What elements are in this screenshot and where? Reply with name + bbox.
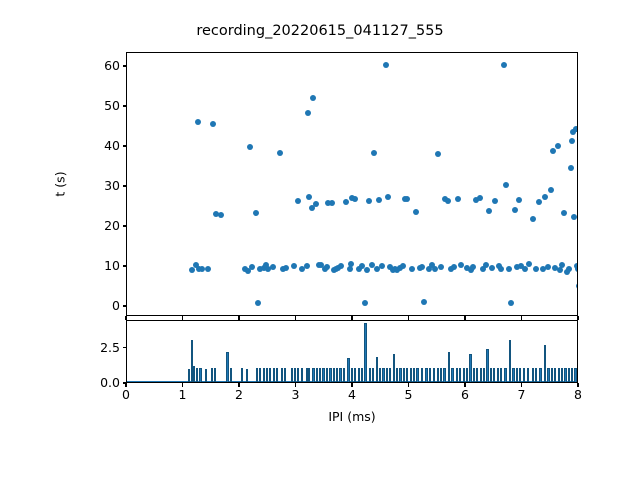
x-axis-tick bbox=[521, 383, 522, 387]
histogram-bar bbox=[246, 369, 248, 382]
y-axis-tick-label: 40 bbox=[104, 140, 120, 153]
histogram-bar bbox=[259, 368, 261, 382]
histogram-bar bbox=[364, 323, 366, 382]
histogram-bar bbox=[459, 368, 461, 382]
histogram-bar bbox=[301, 368, 303, 382]
scatter-point bbox=[492, 198, 498, 204]
scatter-point bbox=[486, 208, 492, 214]
scatter-point bbox=[445, 198, 451, 204]
x-axis-tick bbox=[521, 316, 522, 320]
scatter-point bbox=[199, 266, 205, 272]
histogram-bar bbox=[483, 368, 485, 382]
histogram-bar bbox=[497, 368, 499, 382]
y-axis-tick bbox=[123, 265, 127, 266]
scatter-point bbox=[421, 299, 427, 305]
histogram-bar bbox=[343, 368, 345, 382]
histogram-bar bbox=[500, 368, 502, 382]
histogram-bar bbox=[516, 368, 518, 382]
histogram-bar bbox=[389, 368, 391, 382]
x-axis-tick bbox=[238, 316, 239, 320]
histogram-bar bbox=[358, 368, 360, 382]
histogram-bar bbox=[379, 368, 381, 382]
scatter-point bbox=[404, 196, 410, 202]
histogram-bar bbox=[456, 368, 458, 382]
histogram-bar bbox=[527, 368, 529, 382]
scatter-point bbox=[435, 151, 441, 157]
scatter-point bbox=[526, 261, 532, 267]
histogram-plot-area bbox=[127, 321, 577, 382]
histogram-bar bbox=[284, 368, 286, 382]
scatter-point bbox=[371, 150, 377, 156]
histogram-bar bbox=[425, 368, 427, 382]
histogram-bar bbox=[473, 368, 475, 382]
y-axis-tick bbox=[123, 145, 127, 146]
histogram-bar bbox=[463, 368, 465, 382]
scatter-point bbox=[376, 197, 382, 203]
scatter-point bbox=[366, 198, 372, 204]
scatter-point bbox=[249, 264, 255, 270]
x-axis-tick bbox=[351, 383, 352, 387]
x-axis-tick bbox=[125, 316, 126, 320]
scatter-point bbox=[347, 266, 353, 272]
y-axis-tick-label: 30 bbox=[104, 180, 120, 193]
histogram-bar bbox=[241, 368, 243, 382]
scatter-point bbox=[352, 196, 358, 202]
x-axis-tick bbox=[182, 316, 183, 320]
histogram-bar bbox=[480, 368, 482, 382]
histogram-bar bbox=[568, 368, 570, 382]
histogram-bar bbox=[230, 368, 232, 382]
scatter-point bbox=[270, 264, 276, 270]
histogram-bar bbox=[476, 368, 478, 382]
y-axis-tick bbox=[123, 185, 127, 186]
histogram-bar bbox=[504, 368, 506, 382]
histogram-bar bbox=[354, 368, 356, 382]
histogram-bar bbox=[554, 368, 556, 382]
y-axis-tick-label: 20 bbox=[104, 220, 120, 233]
scatter-point bbox=[195, 119, 201, 125]
x-axis-tick bbox=[295, 316, 296, 320]
scatter-point bbox=[536, 199, 542, 205]
histogram-bar bbox=[326, 368, 328, 382]
histogram-bar bbox=[403, 368, 405, 382]
matplotlib-figure: recording_20220615_041127_555 0102030405… bbox=[0, 0, 640, 480]
y-axis-tick bbox=[123, 105, 127, 106]
y-axis-tick bbox=[123, 65, 127, 66]
histogram-bar bbox=[561, 368, 563, 382]
histogram-bar bbox=[269, 368, 271, 382]
x-axis-tick bbox=[464, 316, 465, 320]
histogram-bar bbox=[205, 369, 207, 382]
scatter-axes bbox=[126, 52, 578, 316]
scatter-point bbox=[557, 267, 563, 273]
histogram-bar bbox=[291, 368, 293, 382]
scatter-point bbox=[477, 195, 483, 201]
scatter-point bbox=[419, 264, 425, 270]
scatter-point bbox=[379, 263, 385, 269]
scatter-point bbox=[455, 196, 461, 202]
scatter-point bbox=[566, 266, 572, 272]
histogram-bar bbox=[416, 368, 418, 382]
x-axis-tick bbox=[408, 383, 409, 387]
y-axis-tick-label: 0 bbox=[112, 300, 120, 313]
histogram-bar bbox=[437, 368, 439, 382]
histogram-bar bbox=[263, 368, 265, 382]
histogram-bar bbox=[297, 368, 299, 382]
histogram-xlabel: IPI (ms) bbox=[126, 409, 578, 424]
scatter-plot-area bbox=[127, 53, 577, 315]
scatter-point bbox=[573, 126, 577, 132]
x-axis-tick-label: 0 bbox=[122, 389, 130, 402]
scatter-point bbox=[506, 266, 512, 272]
histogram-bar bbox=[214, 368, 216, 382]
histogram-bar bbox=[196, 368, 198, 382]
histogram-bar bbox=[406, 368, 408, 382]
scatter-point bbox=[277, 150, 283, 156]
y-axis-tick bbox=[123, 225, 127, 226]
scatter-point bbox=[291, 263, 297, 269]
scatter-point bbox=[247, 144, 253, 150]
scatter-point bbox=[400, 263, 406, 269]
y-axis-tick bbox=[123, 305, 127, 306]
x-axis-tick-label: 5 bbox=[405, 389, 413, 402]
y-axis-tick bbox=[123, 347, 127, 348]
x-axis-tick bbox=[182, 383, 183, 387]
histogram-bar bbox=[421, 368, 423, 382]
histogram-bar bbox=[486, 349, 488, 382]
scatter-point bbox=[364, 267, 370, 273]
histogram-bar bbox=[396, 368, 398, 382]
x-axis-tick bbox=[577, 383, 578, 387]
scatter-point bbox=[283, 265, 289, 271]
scatter-point bbox=[530, 216, 536, 222]
scatter-point bbox=[512, 207, 518, 213]
y-axis-tick-label: 50 bbox=[104, 100, 120, 113]
scatter-point bbox=[545, 264, 551, 270]
histogram-bar bbox=[376, 357, 378, 382]
histogram-bar bbox=[443, 368, 445, 382]
scatter-point bbox=[343, 199, 349, 205]
scatter-point bbox=[559, 262, 565, 268]
histogram-bar bbox=[312, 368, 314, 382]
histogram-bar bbox=[339, 368, 341, 382]
scatter-point bbox=[383, 62, 389, 68]
histogram-bar bbox=[386, 368, 388, 382]
scatter-point bbox=[338, 263, 344, 269]
scatter-point bbox=[516, 197, 522, 203]
histogram-bar bbox=[413, 368, 415, 382]
scatter-point bbox=[205, 266, 211, 272]
histogram-bar bbox=[451, 368, 453, 382]
histogram-bar bbox=[558, 368, 560, 382]
scatter-point bbox=[555, 143, 561, 149]
histogram-bar bbox=[440, 368, 442, 382]
scatter-point bbox=[508, 300, 514, 306]
histogram-bar bbox=[322, 368, 324, 382]
histogram-bar bbox=[466, 368, 468, 382]
y-axis-tick-label: 2.5 bbox=[100, 341, 120, 354]
scatter-point bbox=[569, 138, 575, 144]
x-axis-tick-label: 8 bbox=[574, 389, 582, 402]
histogram-bar bbox=[490, 368, 492, 382]
scatter-point bbox=[189, 267, 195, 273]
scatter-point bbox=[218, 212, 224, 218]
histogram-bar bbox=[399, 368, 401, 382]
histogram-bar bbox=[544, 345, 546, 382]
histogram-bar bbox=[448, 352, 450, 382]
scatter-ylabel: t (s) bbox=[53, 171, 68, 196]
scatter-point bbox=[306, 194, 312, 200]
x-axis-tick bbox=[295, 383, 296, 387]
scatter-point bbox=[313, 201, 319, 207]
histogram-bar bbox=[369, 368, 371, 382]
scatter-point bbox=[571, 214, 577, 220]
x-axis-tick-label: 2 bbox=[235, 389, 243, 402]
y-axis-tick bbox=[123, 382, 127, 383]
histogram-bar bbox=[372, 368, 374, 382]
histogram-bar bbox=[523, 368, 525, 382]
histogram-bar bbox=[551, 368, 553, 382]
x-axis-tick-label: 7 bbox=[518, 389, 526, 402]
scatter-point bbox=[329, 200, 335, 206]
histogram-bar bbox=[493, 368, 495, 382]
figure-title: recording_20220615_041127_555 bbox=[0, 24, 640, 39]
scatter-point bbox=[470, 264, 476, 270]
scatter-point bbox=[561, 210, 567, 216]
scatter-point bbox=[324, 264, 330, 270]
scatter-point bbox=[501, 62, 507, 68]
scatter-point bbox=[310, 95, 316, 101]
scatter-point bbox=[548, 187, 554, 193]
histogram-bar bbox=[382, 368, 384, 382]
histogram-bar bbox=[509, 340, 511, 382]
histogram-bar bbox=[469, 354, 471, 382]
scatter-point bbox=[542, 194, 548, 200]
histogram-axes bbox=[126, 320, 578, 383]
x-axis-tick bbox=[464, 383, 465, 387]
histogram-bar bbox=[319, 368, 321, 382]
histogram-bar bbox=[329, 368, 331, 382]
histogram-bar bbox=[361, 368, 363, 382]
scatter-point bbox=[385, 194, 391, 200]
scatter-point bbox=[533, 266, 539, 272]
histogram-bar bbox=[347, 358, 349, 382]
histogram-bar bbox=[276, 368, 278, 382]
scatter-point bbox=[576, 283, 577, 289]
x-axis-tick-label: 6 bbox=[461, 389, 469, 402]
histogram-bar bbox=[226, 352, 228, 382]
histogram-bar bbox=[539, 368, 541, 382]
histogram-bar bbox=[256, 368, 258, 382]
scatter-point bbox=[568, 165, 574, 171]
histogram-bar bbox=[281, 368, 283, 382]
x-axis-tick bbox=[577, 316, 578, 320]
histogram-bar bbox=[571, 368, 573, 382]
x-axis-tick-label: 4 bbox=[348, 389, 356, 402]
scatter-point bbox=[489, 265, 495, 271]
histogram-bar bbox=[211, 368, 213, 382]
x-axis-tick bbox=[238, 383, 239, 387]
histogram-bar bbox=[333, 368, 335, 382]
scatter-point bbox=[438, 264, 444, 270]
x-axis-tick bbox=[408, 316, 409, 320]
scatter-point bbox=[498, 266, 504, 272]
histogram-bar bbox=[393, 354, 395, 382]
histogram-bar bbox=[519, 368, 521, 382]
histogram-bar bbox=[547, 368, 549, 382]
scatter-point bbox=[210, 121, 216, 127]
x-axis-tick-label: 1 bbox=[179, 389, 187, 402]
histogram-bar bbox=[336, 368, 338, 382]
histogram-bar bbox=[410, 368, 412, 382]
histogram-bar bbox=[351, 368, 353, 382]
histogram-bar bbox=[532, 368, 534, 382]
scatter-point bbox=[304, 263, 310, 269]
histogram-bar bbox=[564, 368, 566, 382]
scatter-point bbox=[253, 210, 259, 216]
histogram-bar bbox=[535, 368, 537, 382]
scatter-point bbox=[574, 263, 577, 269]
scatter-point bbox=[348, 261, 354, 267]
y-axis-tick-label: 10 bbox=[104, 260, 120, 273]
y-axis-tick-label: 60 bbox=[104, 60, 120, 73]
histogram-bar bbox=[273, 368, 275, 382]
scatter-point bbox=[305, 110, 311, 116]
scatter-point bbox=[362, 300, 368, 306]
histogram-bar bbox=[433, 368, 435, 382]
histogram-bar bbox=[308, 368, 310, 382]
scatter-point bbox=[503, 182, 509, 188]
scatter-point bbox=[451, 264, 457, 270]
histogram-bar bbox=[512, 368, 514, 382]
histogram-bar bbox=[429, 368, 431, 382]
histogram-bar bbox=[316, 368, 318, 382]
x-axis-tick bbox=[351, 316, 352, 320]
scatter-point bbox=[295, 198, 301, 204]
scatter-point bbox=[413, 209, 419, 215]
scatter-point bbox=[522, 266, 528, 272]
scatter-point bbox=[255, 300, 261, 306]
histogram-bar bbox=[199, 368, 201, 382]
scatter-point bbox=[550, 148, 556, 154]
scatter-point bbox=[409, 266, 415, 272]
y-axis-tick-label: 0.0 bbox=[100, 377, 120, 390]
x-axis-tick-label: 3 bbox=[292, 389, 300, 402]
